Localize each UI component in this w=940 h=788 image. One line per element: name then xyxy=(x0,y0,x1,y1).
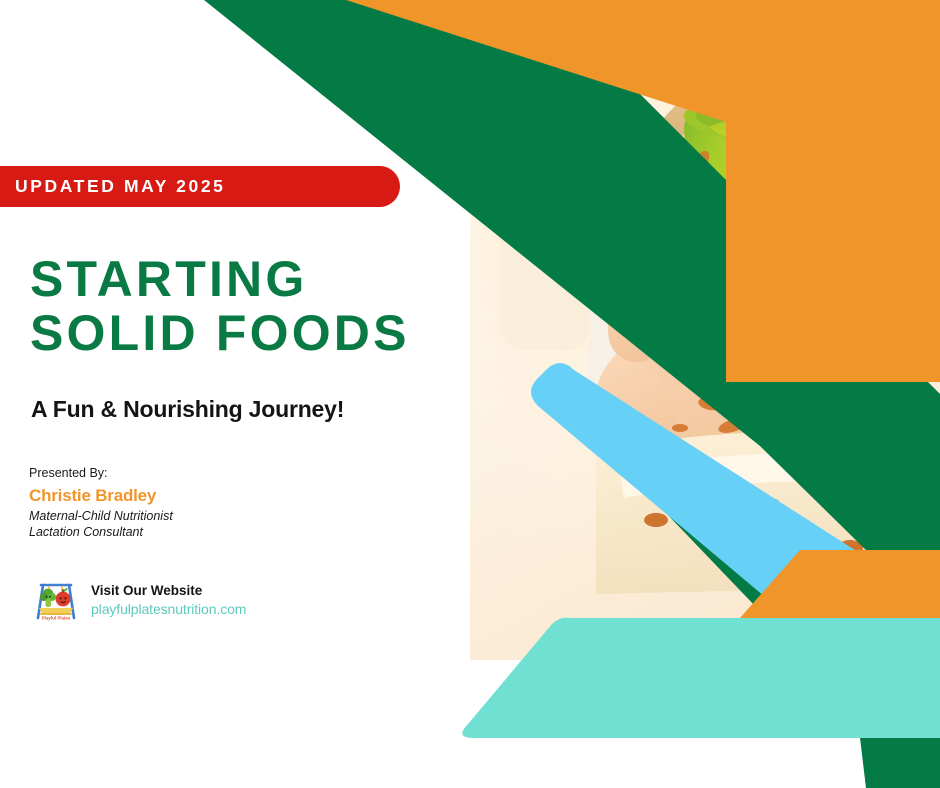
website-text-group: Visit Our Website playfulplatesnutrition… xyxy=(91,584,246,617)
playful-plates-swing-set-logo-icon: Playful Plates xyxy=(31,578,81,622)
baby-highchair-illustration-icon xyxy=(470,0,940,660)
page-title: STARTING SOLID FOODS xyxy=(30,252,410,360)
website-block[interactable]: Playful Plates Visit Our Website playful… xyxy=(31,578,246,622)
presenter-credentials: Maternal-Child Nutritionist Lactation Co… xyxy=(29,508,173,540)
website-url-link[interactable]: playfulplatesnutrition.com xyxy=(91,602,246,616)
hero-photo xyxy=(470,0,940,660)
poster-canvas: UPDATED MAY 2025 STARTING SOLID FOODS A … xyxy=(0,0,940,788)
presented-by-label: Presented By: xyxy=(29,466,108,480)
page-subtitle: A Fun & Nourishing Journey! xyxy=(31,396,344,423)
visit-website-label: Visit Our Website xyxy=(91,584,246,598)
updated-date-ribbon: UPDATED MAY 2025 xyxy=(0,166,400,207)
hero-photo-mask xyxy=(470,0,940,660)
presenter-name: Christie Bradley xyxy=(29,486,156,506)
svg-text:Playful Plates: Playful Plates xyxy=(42,616,71,621)
updated-date-label: UPDATED MAY 2025 xyxy=(15,176,226,197)
